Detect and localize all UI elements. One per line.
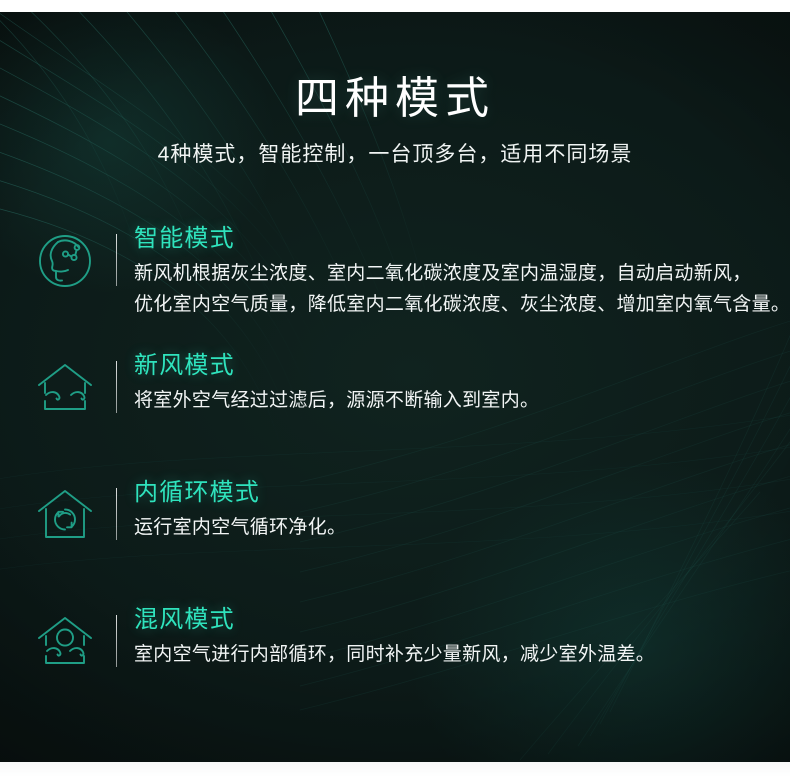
page-title: 四种模式: [0, 74, 790, 123]
house-recycle-icon: [34, 484, 96, 546]
bottom-white-band: [0, 762, 790, 777]
mode-text: 新风模式 将室外空气经过过滤后，源源不断输入到室内。: [117, 350, 790, 417]
mode-title: 内循环模式: [134, 477, 790, 509]
mode-item-fresh-air[interactable]: 新风模式 将室外空气经过过滤后，源源不断输入到室内。: [0, 339, 790, 466]
top-white-band: [0, 0, 790, 12]
mode-description: 新风机根据灰尘浓度、室内二氧化碳浓度及室内温湿度，自动启动新风， 优化室内空气质…: [134, 259, 790, 321]
mode-title: 智能模式: [134, 223, 790, 255]
mode-item-internal-circulation[interactable]: 内循环模式 运行室内空气循环净化。: [0, 466, 790, 593]
mode-text: 内循环模式 运行室内空气循环净化。: [117, 477, 790, 544]
mode-list: 智能模式 新风机根据灰尘浓度、室内二氧化碳浓度及室内温湿度，自动启动新风， 优化…: [0, 212, 790, 720]
house-mixed-air-icon: [34, 611, 96, 673]
mode-description-line: 将室外空气经过过滤后，源源不断输入到室内。: [134, 386, 790, 417]
page-subtitle: 4种模式，智能控制，一台顶多台，适用不同场景: [0, 141, 790, 168]
mode-description: 室内空气进行内部循环，同时补充少量新风，减少室外温差。: [134, 640, 790, 671]
mode-text: 混风模式 室内空气进行内部循环，同时补充少量新风，减少室外温差。: [117, 604, 790, 671]
mode-description-line: 室内空气进行内部循环，同时补充少量新风，减少室外温差。: [134, 640, 790, 671]
mode-description: 将室外空气经过过滤后，源源不断输入到室内。: [134, 386, 790, 417]
promo-page: 四种模式 4种模式，智能控制，一台顶多台，适用不同场景: [0, 0, 790, 777]
mode-text: 智能模式 新风机根据灰尘浓度、室内二氧化碳浓度及室内温湿度，自动启动新风， 优化…: [117, 223, 790, 321]
mode-description-line: 新风机根据灰尘浓度、室内二氧化碳浓度及室内温湿度，自动启动新风，: [134, 259, 790, 290]
mode-description-line: 优化室内空气质量，降低室内二氧化碳浓度、灰尘浓度、增加室内氧气含量。: [134, 290, 790, 321]
smart-head-circle-icon: [34, 230, 96, 292]
house-fresh-air-icon: [34, 357, 96, 419]
mode-description-line: 运行室内空气循环净化。: [134, 513, 790, 544]
mode-item-smart[interactable]: 智能模式 新风机根据灰尘浓度、室内二氧化碳浓度及室内温湿度，自动启动新风， 优化…: [0, 212, 790, 339]
mode-title: 混风模式: [134, 604, 790, 636]
dark-stage: 四种模式 4种模式，智能控制，一台顶多台，适用不同场景: [0, 12, 790, 762]
mode-description: 运行室内空气循环净化。: [134, 513, 790, 544]
mode-title: 新风模式: [134, 350, 790, 382]
mode-item-mixed-air[interactable]: 混风模式 室内空气进行内部循环，同时补充少量新风，减少室外温差。: [0, 593, 790, 720]
header: 四种模式 4种模式，智能控制，一台顶多台，适用不同场景: [0, 12, 790, 169]
